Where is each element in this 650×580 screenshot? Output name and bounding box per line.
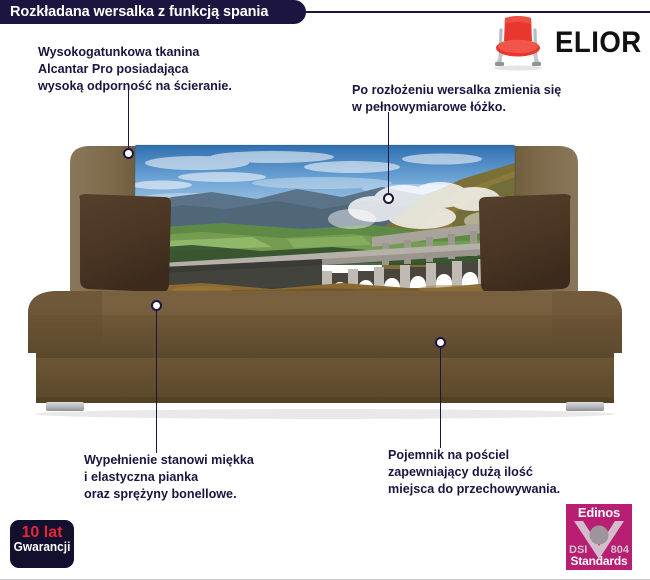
marker-dot-storage bbox=[435, 337, 446, 348]
page-title: Rozkładana wersalka z funkcją spania bbox=[10, 4, 268, 20]
cushion-right bbox=[479, 194, 571, 292]
annotation-bed-text: Po rozłożeniu wersalka zmienia się w peł… bbox=[352, 82, 642, 116]
certification-badge: Edinos DSI 804 Standards bbox=[566, 504, 632, 570]
page-title-banner: Rozkładana wersalka z funkcją spania bbox=[0, 0, 306, 24]
leader-line-bed bbox=[388, 112, 389, 198]
certification-standards-label: Standards bbox=[566, 554, 632, 568]
leader-line-storage bbox=[440, 344, 441, 448]
annotation-storage-text: Pojemnik na pościel zapewniający dużą il… bbox=[388, 447, 638, 498]
product-image-sofa bbox=[22, 137, 628, 427]
marker-dot-bed bbox=[383, 193, 394, 204]
warranty-years: 10 lat bbox=[10, 524, 74, 541]
leader-line-foam bbox=[156, 306, 157, 453]
brand-name: ELIOR bbox=[555, 26, 642, 60]
warranty-badge: 10 lat Gwarancji bbox=[10, 520, 74, 568]
leg-front-left bbox=[46, 402, 84, 411]
marker-dot-foam bbox=[151, 300, 162, 311]
certification-brand: Edinos bbox=[566, 505, 632, 520]
storage-base bbox=[36, 353, 614, 403]
brand-logo: ELIOR bbox=[487, 12, 645, 74]
annotation-fabric-text: Wysokogatunkowa tkanina Alcantar Pro pos… bbox=[38, 44, 320, 95]
annotation-foam-text: Wypełnienie stanowi miękka i elastyczna … bbox=[84, 452, 349, 503]
leg-front-right bbox=[566, 402, 604, 411]
leader-line-fabric bbox=[128, 88, 129, 153]
red-chair-icon bbox=[487, 12, 549, 74]
backrest-landscape-print bbox=[132, 145, 522, 297]
cushion-left bbox=[79, 194, 171, 292]
marker-dot-fabric bbox=[123, 148, 134, 159]
infographic-page: Rozkładana wersalka z funkcją spania bbox=[0, 0, 650, 580]
warranty-word: Gwarancji bbox=[12, 541, 73, 555]
